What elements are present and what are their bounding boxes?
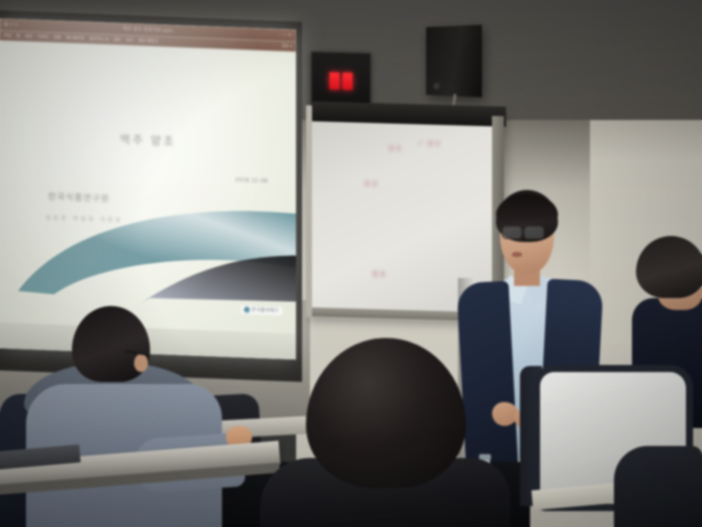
clock-digit-left <box>330 72 340 89</box>
student-foreground <box>300 338 510 527</box>
seated-person-right-hair <box>636 236 702 298</box>
menu-item-view: 보기 <box>126 35 133 45</box>
clock-digits <box>330 72 353 90</box>
whiteboard-note-3: 효모 <box>364 179 379 189</box>
whiteboard-note-2: ✓ 생산 <box>418 138 442 149</box>
speaker-cone-icon <box>433 82 439 89</box>
slide-title: 백주 양조 <box>0 126 296 153</box>
student-foreground-hair <box>306 338 466 488</box>
whiteboard-note-4: 발효 <box>372 269 387 279</box>
menu-item-animation: 애니메이션 <box>66 33 84 44</box>
menubar-share-control: 공유 ▾ <box>282 41 292 51</box>
classroom-photo: ▤ ▾ ✕ 백주 양조 발표자료.pptx ‒ □ ✕ 파일 홈 삽입 디자인 … <box>0 0 702 527</box>
window-controls: ‒ □ ✕ <box>279 29 292 42</box>
presenter-glasses-right-lens <box>524 226 544 239</box>
presenter-mouth <box>512 252 522 257</box>
chair-dark-right <box>614 446 702 527</box>
presenter-glasses-bridge <box>520 231 525 232</box>
menu-item-file: 파일 <box>4 30 11 40</box>
wall-speaker <box>426 25 482 98</box>
whiteboard-note-1: 양조 <box>388 144 403 154</box>
menu-item-insert: 삽입 <box>25 31 32 41</box>
clock-digit-right <box>343 73 353 90</box>
slide-date: 2018.11.08 <box>235 177 268 184</box>
menu-item-home: 홈 <box>16 31 20 41</box>
chair-frame-left <box>520 366 542 506</box>
menu-item-review: 검토 <box>114 35 121 45</box>
student-gray-hoodie <box>14 306 284 527</box>
presenter-glasses-left-lens <box>502 226 522 239</box>
menu-item-transition: 전환 <box>53 32 60 42</box>
menu-item-design: 디자인 <box>37 32 48 42</box>
